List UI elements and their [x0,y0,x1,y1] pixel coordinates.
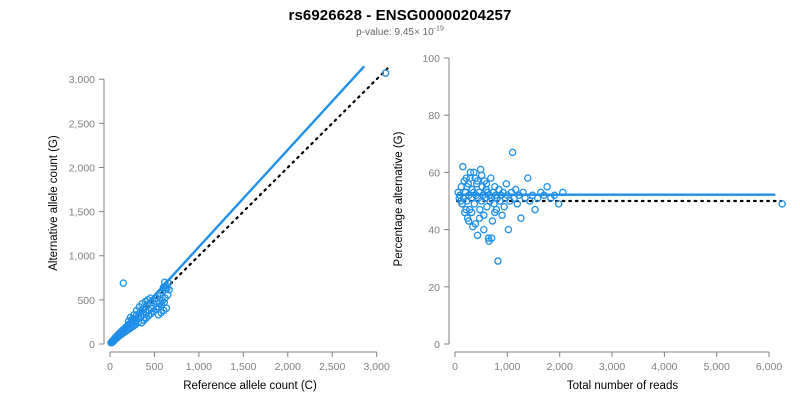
axes-group: 05001,0001,5002,0002,5003,00005001,0001,… [69,74,390,373]
y-tick-label: 1,000 [69,251,95,263]
x-tick-label: 2,000 [275,361,301,373]
x-tick-label: 1,000 [186,361,212,373]
data-point [518,215,524,221]
data-point [509,149,515,155]
x-tick-label: 500 [146,361,164,373]
data-point [477,206,483,212]
data-point [501,204,507,210]
y-tick-label: 500 [77,295,95,307]
x-tick-label: 1,000 [494,361,520,373]
data-point [532,206,538,212]
y-axis-title-right: Percentage alternative (G) [393,46,405,352]
x-axis-title-right: Total number of reads [415,380,800,392]
x-tick-label: 4,000 [651,361,677,373]
y-tick-label: 2,500 [69,118,95,130]
right-plot-svg: 02040608010001,0002,0003,0004,0005,0006,… [400,0,800,400]
data-point [525,175,531,181]
data-point [481,227,487,233]
x-tick-label: 2,500 [319,361,345,373]
y-tick-label: 20 [428,282,440,294]
x-tick-label: 2,000 [547,361,573,373]
y-tick-label: 2,000 [69,162,95,174]
data-point [495,258,501,264]
data-point [489,218,495,224]
data-point [503,181,509,187]
data-points-group [455,149,785,264]
y-tick-label: 0 [434,339,440,351]
y-axis-title-left: Alternative allele count (G) [48,54,60,352]
lines-group [110,66,389,344]
y-tick-label: 0 [89,339,95,351]
data-point [120,280,126,286]
y-tick-label: 80 [428,110,440,122]
data-point [499,212,505,218]
reference-line [110,67,389,344]
figure-container: rs6926628 - ENSG00000204257 p-value: 9.4… [0,0,800,400]
y-tick-label: 1,500 [69,207,95,219]
x-tick-label: 0 [107,361,113,373]
data-point [505,227,511,233]
data-point [556,201,562,207]
y-tick-label: 3,000 [69,74,95,86]
x-tick-label: 0 [452,361,458,373]
y-tick-label: 40 [428,225,440,237]
x-tick-label: 6,000 [756,361,782,373]
data-point [779,201,785,207]
x-tick-label: 3,000 [599,361,625,373]
data-point [471,201,477,207]
x-tick-label: 5,000 [704,361,730,373]
y-tick-label: 100 [422,53,440,65]
data-point [488,175,494,181]
left-plot-svg: 05001,0001,5002,0002,5003,00005001,0001,… [0,0,400,400]
scatter-panel-right: 02040608010001,0002,0003,0004,0005,0006,… [400,0,800,400]
x-tick-label: 1,500 [230,361,256,373]
y-tick-label: 60 [428,167,440,179]
axes-group: 02040608010001,0002,0003,0004,0005,0006,… [422,53,782,373]
data-point [460,164,466,170]
x-axis-title-left: Reference allele count (C) [70,380,430,392]
scatter-panel-left: 05001,0001,5002,0002,5003,00005001,0001,… [0,0,400,400]
data-point [474,232,480,238]
data-point [544,184,550,190]
data-points-group [108,70,389,346]
x-tick-label: 3,000 [364,361,390,373]
